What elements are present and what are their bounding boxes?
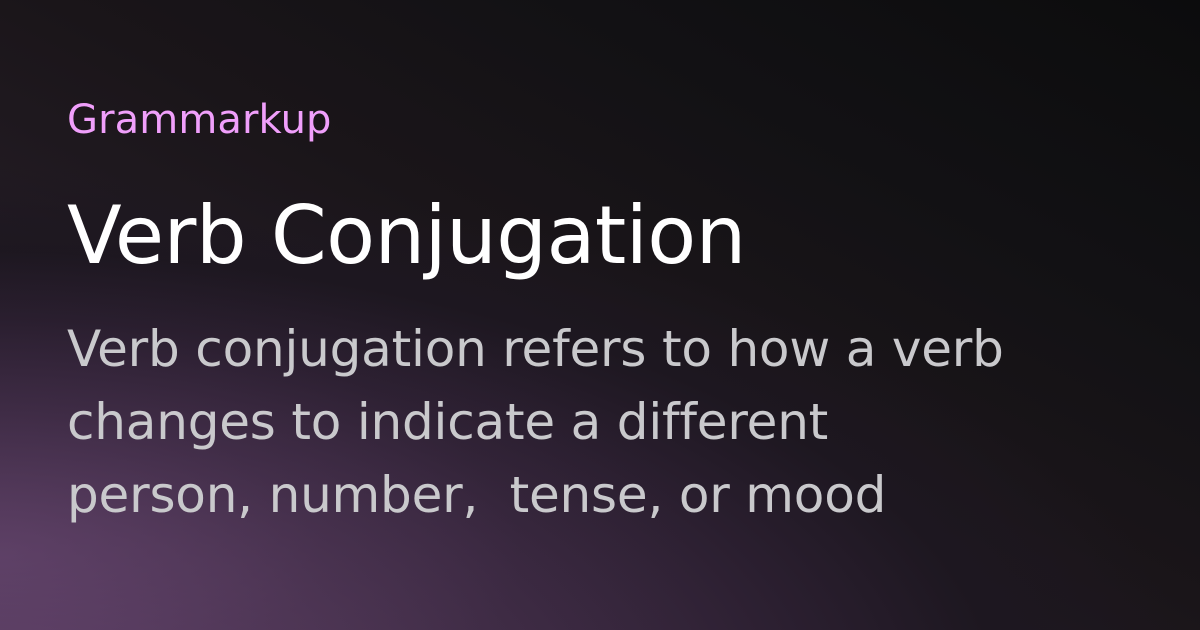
page-title: Verb Conjugation	[67, 194, 1047, 277]
open-graph-card: Grammarkup Verb Conjugation Verb conjuga…	[0, 0, 1200, 630]
card-content: Grammarkup Verb Conjugation Verb conjuga…	[67, 0, 1067, 630]
page-description: Verb conjugation refers to how a verb ch…	[67, 313, 1019, 532]
brand-name: Grammarkup	[67, 98, 1067, 142]
